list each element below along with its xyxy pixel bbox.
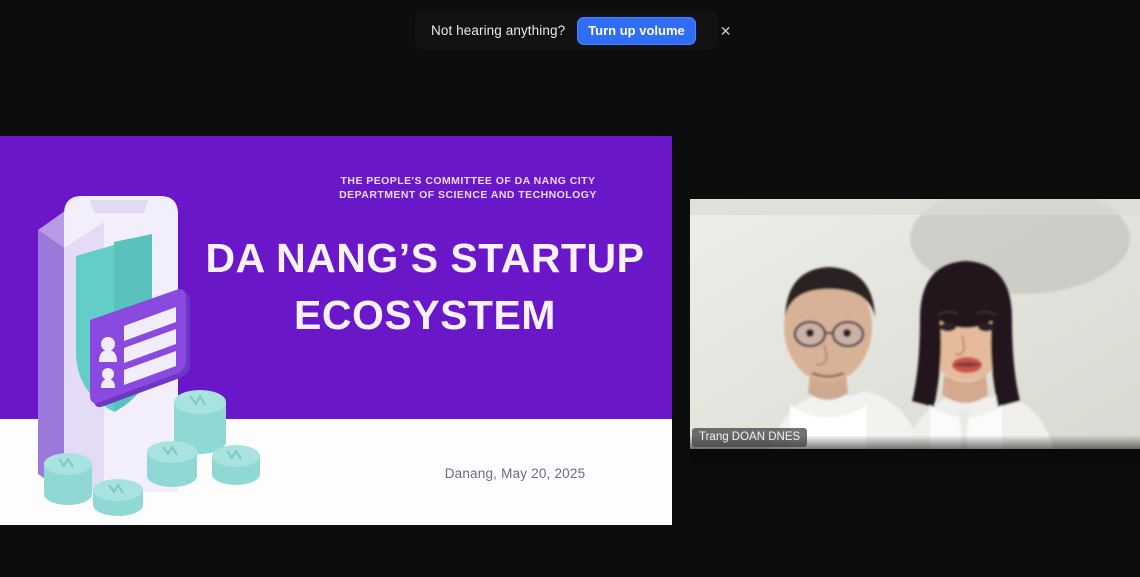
panel-divider <box>672 136 690 525</box>
slide-organization-line1: THE PEOPLE'S COMMITTEE OF DA NANG CITY <box>268 174 668 188</box>
shared-screen-slide[interactable]: THE PEOPLE'S COMMITTEE OF DA NANG CITY D… <box>0 136 682 525</box>
slide-title: DA NANG’S STARTUP ECOSYSTEM <box>180 230 670 344</box>
meeting-screen: Not hearing anything? Turn up volume ✕ <box>0 0 1140 577</box>
video-tile[interactable]: Trang DOAN DNES <box>690 199 1140 465</box>
close-icon[interactable]: ✕ <box>712 20 740 42</box>
participant-name-badge: Trang DOAN DNES <box>692 428 807 447</box>
slide-organization: THE PEOPLE'S COMMITTEE OF DA NANG CITY D… <box>268 174 668 202</box>
toast-message: Not hearing anything? <box>431 23 565 38</box>
turn-up-volume-button[interactable]: Turn up volume <box>577 17 696 45</box>
slide-title-line2: ECOSYSTEM <box>180 287 670 344</box>
slide-title-line1: DA NANG’S STARTUP <box>180 230 670 287</box>
slide-date: Danang, May 20, 2025 <box>400 466 630 481</box>
audio-toast: Not hearing anything? Turn up volume ✕ <box>415 11 718 50</box>
slide-organization-line2: DEPARTMENT OF SCIENCE AND TECHNOLOGY <box>268 188 668 202</box>
video-participants <box>690 199 1140 465</box>
